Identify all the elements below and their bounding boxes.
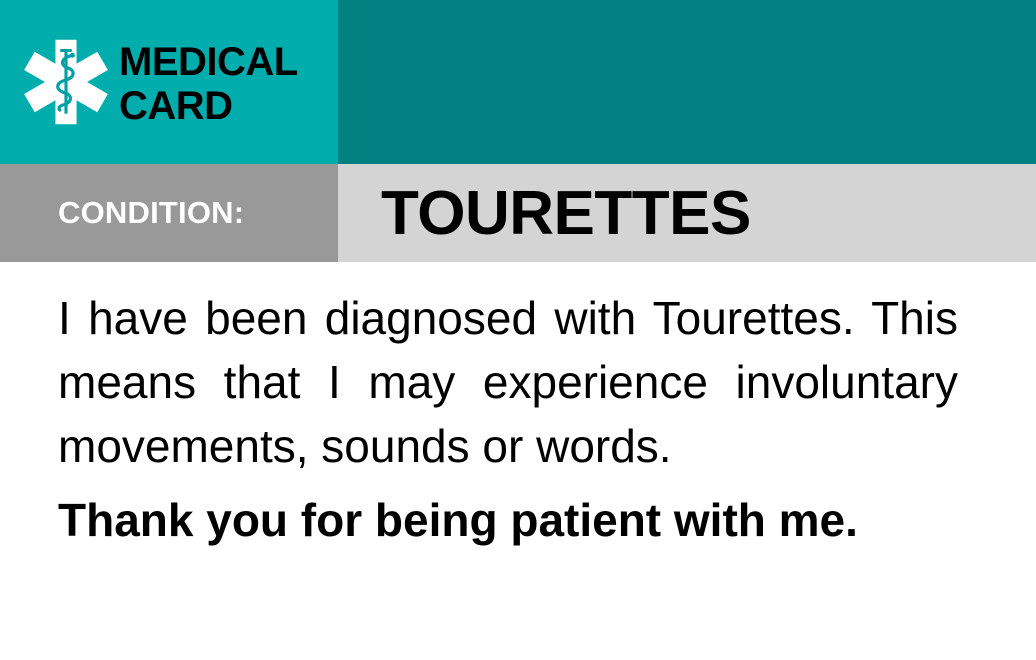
closing-message: Thank you for being patient with me.: [58, 478, 958, 552]
brand-title-line-1: MEDICAL: [119, 40, 334, 84]
condition-value: TOURETTES: [381, 164, 751, 262]
condition-description: I have been diagnosed with Tourettes. Th…: [58, 286, 958, 478]
brand-title-line-2: CARD: [119, 84, 334, 128]
card-header: MEDICAL CARD: [0, 0, 1036, 164]
condition-label-panel: CONDITION:: [0, 164, 338, 262]
medical-card: MEDICAL CARD CONDITION: TOURETTES I have…: [0, 0, 1036, 660]
card-body: I have been diagnosed with Tourettes. Th…: [58, 286, 958, 552]
star-of-life-icon: [22, 38, 110, 126]
condition-band: CONDITION: TOURETTES: [0, 164, 1036, 262]
brand-panel: MEDICAL CARD: [0, 0, 338, 164]
brand-title: MEDICAL CARD: [119, 40, 334, 128]
condition-label: CONDITION:: [58, 164, 244, 262]
